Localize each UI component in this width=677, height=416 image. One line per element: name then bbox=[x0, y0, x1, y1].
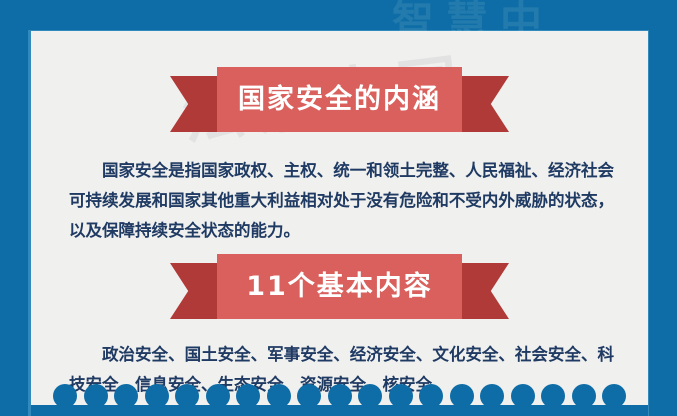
fringe-dot bbox=[267, 384, 291, 408]
fringe-dot bbox=[328, 384, 352, 408]
banner-panel: 11个基本内容 bbox=[217, 254, 462, 319]
fringe-dot bbox=[480, 384, 504, 408]
fringe-dot bbox=[419, 384, 443, 408]
fringe-dot bbox=[206, 384, 230, 408]
fringe-dot bbox=[145, 384, 169, 408]
fringe-dot bbox=[602, 384, 626, 408]
paragraph-national-security-definition: 国家安全是指国家政权、主权、统一和领土完整、人民福祉、经济社会可持续发展和国家其… bbox=[69, 156, 614, 246]
section-banner-eleven-contents: 11个基本内容 bbox=[31, 254, 648, 328]
fringe-dot bbox=[572, 384, 596, 408]
fringe-dot bbox=[175, 384, 199, 408]
fringe-dot bbox=[114, 384, 138, 408]
banner-panel: 国家安全的内涵 bbox=[217, 67, 462, 132]
fringe-dot bbox=[53, 384, 77, 408]
fringe-dot bbox=[358, 384, 382, 408]
fringe-dot bbox=[84, 384, 108, 408]
content-card: 法治中国 国家安全的内涵 国家安全是指国家政权、主权、统一和领土完整、人民福祉、… bbox=[31, 31, 648, 416]
fringe-dot bbox=[541, 384, 565, 408]
fringe-dot bbox=[450, 384, 474, 408]
bottom-dot-fringe bbox=[31, 376, 648, 416]
infographic-poster: 智慧中 法治中国 国家安全的内涵 国家安全是指国家政权、主权、统一和领土完整、人… bbox=[0, 0, 677, 416]
fringe-dot bbox=[236, 384, 260, 408]
fringe-dot bbox=[389, 384, 413, 408]
section-banner-inner-meaning: 国家安全的内涵 bbox=[31, 67, 648, 141]
fringe-dot bbox=[511, 384, 535, 408]
banner-title-text: 国家安全的内涵 bbox=[238, 86, 441, 113]
banner-title-text: 11个基本内容 bbox=[246, 273, 433, 300]
fringe-dot bbox=[297, 384, 321, 408]
